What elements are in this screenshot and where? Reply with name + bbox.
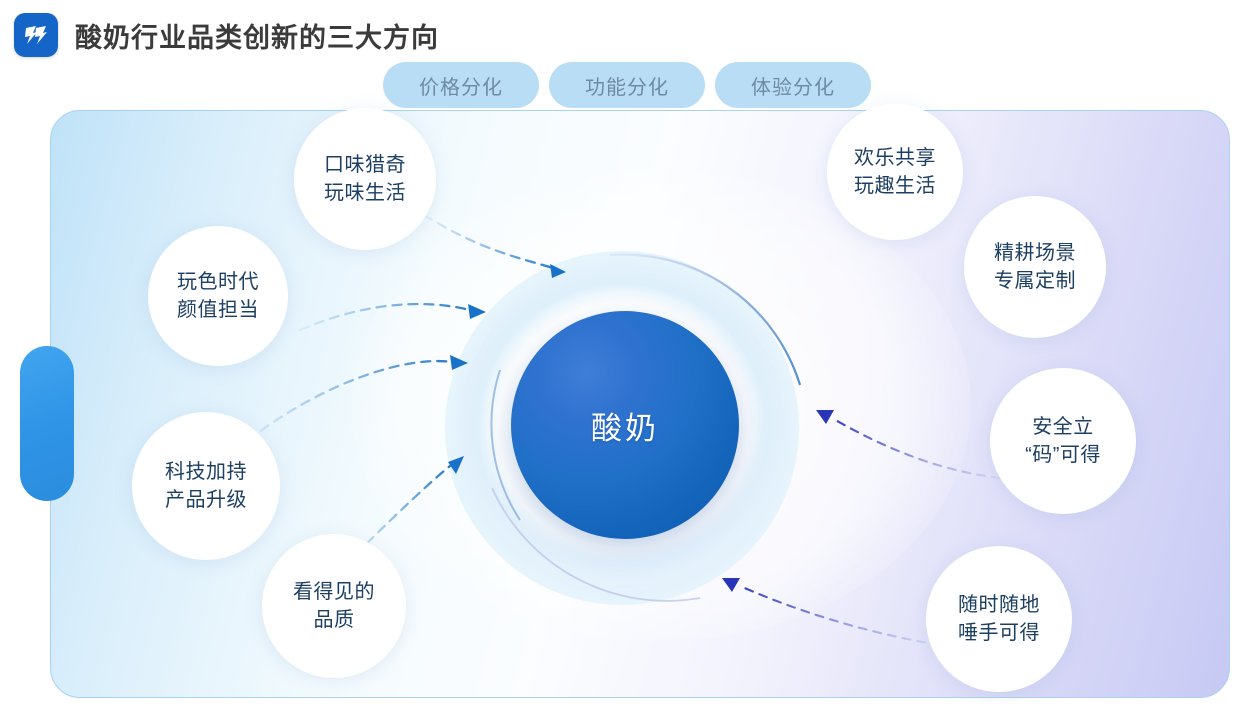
bubble-line-1: 欢乐共享 [854,144,936,172]
bubble-line-2: 专属定制 [994,267,1076,295]
bubble-visible-quality[interactable]: 看得见的 品质 [262,534,406,678]
bubble-line-2: 品质 [293,606,375,634]
bubble-line-2: 唾手可得 [958,619,1040,647]
sphere-label: 酸奶 [591,403,659,448]
bubble-joy-sharing[interactable]: 欢乐共享 玩趣生活 [827,104,963,240]
bubble-anytime-anywhere[interactable]: 随时随地 唾手可得 [926,546,1072,692]
center-sphere: 酸奶 [437,243,807,613]
bubble-line-2: 颜值担当 [177,296,259,324]
page-header: 酸奶行业品类创新的三大方向 [0,0,1254,70]
bubble-color-era[interactable]: 玩色时代 颜值担当 [148,226,288,366]
bubble-line-1: 玩色时代 [177,268,259,296]
bubble-line-1: 口味猎奇 [324,151,406,179]
bubble-line-1: 科技加持 [165,458,247,486]
bubble-line-1: 精耕场景 [994,239,1076,267]
bubble-line-1: 随时随地 [958,591,1040,619]
bubble-line-2: 玩趣生活 [854,172,936,200]
brand-logo-icon [14,13,58,57]
bubble-scene-custom[interactable]: 精耕场景 专属定制 [964,196,1106,338]
page-title: 酸奶行业品类创新的三大方向 [75,16,439,55]
bubble-line-2: 玩味生活 [324,179,406,207]
bubble-line-2: 产品升级 [165,486,247,514]
bubble-line-1: 安全立 [1025,413,1101,441]
bubble-line-2: “码”可得 [1025,441,1101,469]
sphere-core[interactable]: 酸奶 [511,311,739,539]
bubble-tech-upgrade[interactable]: 科技加持 产品升级 [132,412,280,560]
bubble-safety-code[interactable]: 安全立 “码”可得 [990,368,1136,514]
bubble-taste-curiosity[interactable]: 口味猎奇 玩味生活 [294,108,436,250]
bubble-line-1: 看得见的 [293,578,375,606]
side-handle[interactable] [20,346,74,501]
